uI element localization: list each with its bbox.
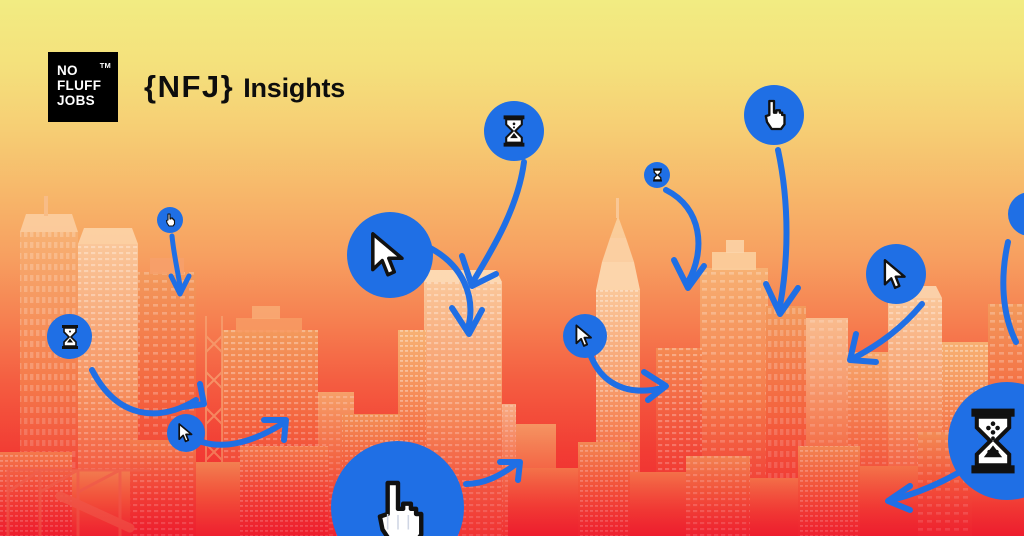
hourglass-icon [501,115,527,147]
hourglass-badge-tiny-center[interactable] [644,162,670,188]
brand-logo-row: NO FLUFF JOBS TM {NFJ} Insights [48,52,345,122]
arrow-path-center-cursor-right [586,348,676,408]
hourglass-icon [60,325,80,349]
hand-badge-xlarge-bottom[interactable] [331,441,464,536]
arrow-cursor-icon [370,231,410,279]
no-fluff-jobs-logo-mark[interactable]: NO FLUFF JOBS TM [48,52,118,122]
hourglass-badge-small-left[interactable] [47,314,92,359]
trademark-symbol: TM [100,61,111,70]
hourglass-badge-xlarge-right[interactable] [948,382,1024,500]
arrow-badge-medium-center[interactable] [563,314,607,358]
insights-banner: NO FLUFF JOBS TM {NFJ} Insights [0,0,1024,536]
arrow-badge-medium-right[interactable] [866,244,926,304]
arrow-path-hourglass-top-down [452,158,542,298]
arrow-path-center-hourglass-down [662,186,722,296]
arrow-cursor-icon [883,258,910,291]
arrow-path-bottom-hand-right [462,456,532,496]
arrow-badge-small-left[interactable] [167,414,205,452]
arrow-path-tiny-hand-down [160,232,200,302]
hourglass-icon [652,168,663,182]
arrow-cursor-icon [575,324,595,348]
arrow-path-hand-top-right-down [762,146,822,326]
wordmark-insights: Insights [243,73,345,104]
hourglass-badge-medium-top[interactable] [484,101,544,161]
wordmark-nfj: {NFJ} [144,69,234,105]
hand-badge-tiny-left[interactable] [157,207,183,233]
arrow-path-left-cursor [198,410,298,460]
arrow-cursor-icon [178,423,195,443]
badge-clipped-right-edge[interactable] [1008,192,1024,236]
arrow-path-right-edge [996,238,1024,348]
nfj-insights-wordmark: {NFJ} Insights [144,69,345,105]
arrow-badge-large-upper[interactable] [347,212,433,298]
logo-mark-text: NO FLUFF JOBS [57,63,101,108]
hand-pointer-icon [760,98,788,132]
hourglass-icon [966,408,1020,474]
hand-badge-medium-top-right[interactable] [744,85,804,145]
hand-pointer-icon [164,213,176,227]
arrow-path-right-cursor-downleft [846,300,936,370]
hand-pointer-icon [367,477,429,536]
